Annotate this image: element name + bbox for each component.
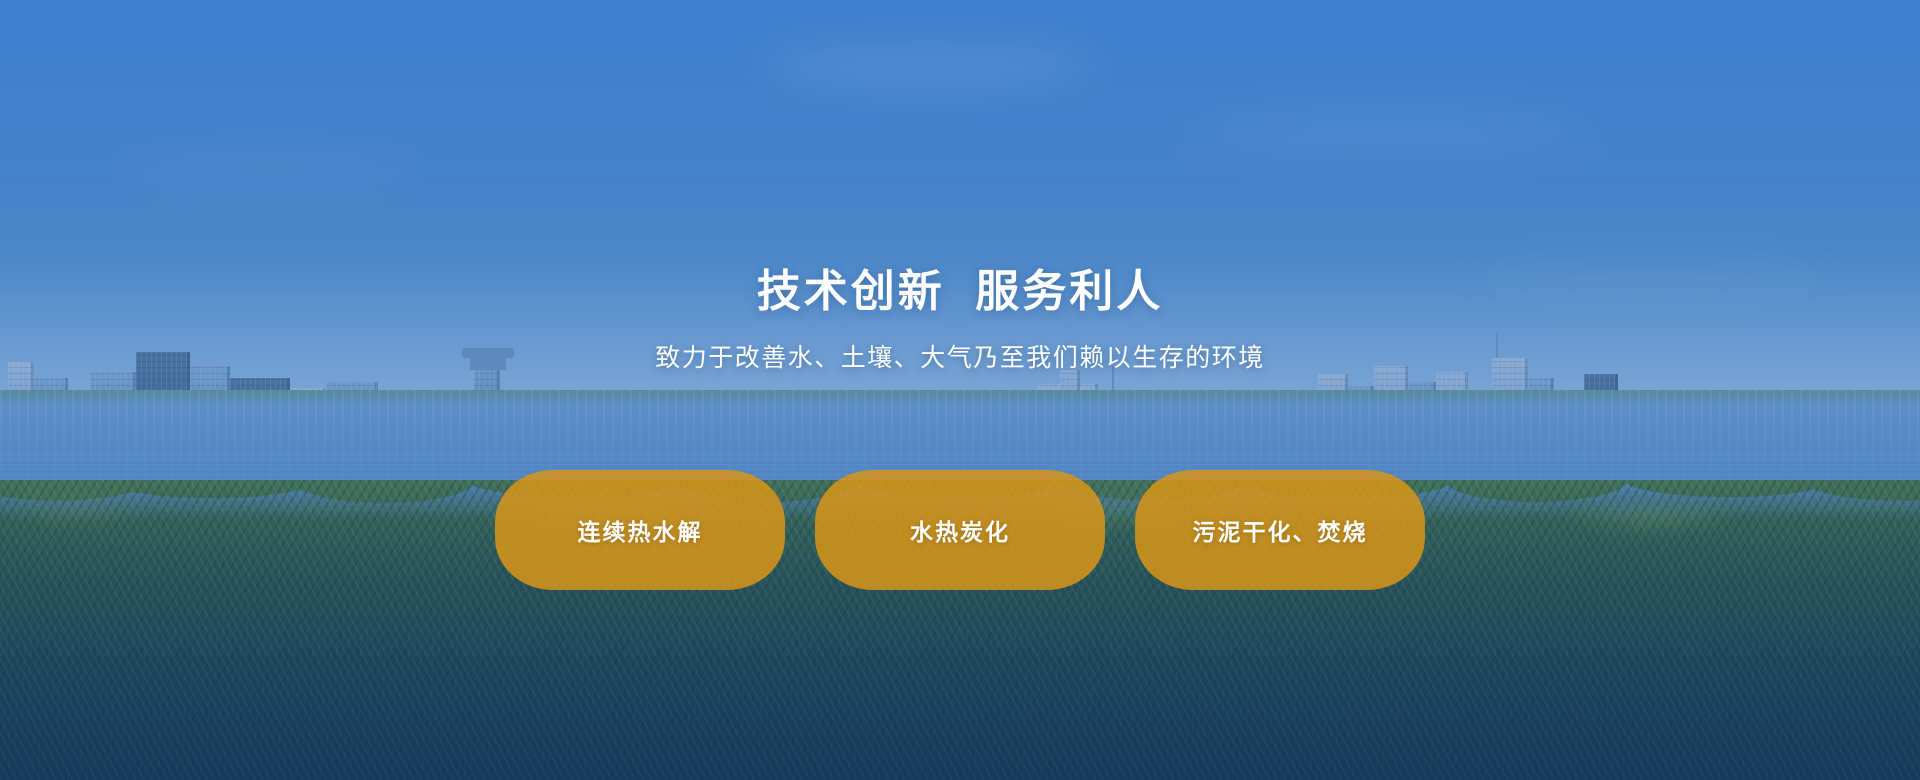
hero-banner: 技术创新 服务利人 致力于改善水、土壤、大气乃至我们赖以生存的环境 连续热水解 … (0, 0, 1920, 780)
btn-continuous-thermal-hydrolysis[interactable]: 连续热水解 (495, 470, 785, 590)
cloud-wisp-icon (1180, 110, 1600, 150)
antenna-icon (1496, 332, 1498, 358)
hero-button-group: 连续热水解 水热炭化 污泥干化、焚烧 (0, 470, 1920, 590)
btn-hydrothermal-carbonization[interactable]: 水热炭化 (815, 470, 1105, 590)
cloud-wisp-icon (120, 150, 420, 184)
tower-neck (470, 356, 506, 370)
btn-sludge-drying-incineration[interactable]: 污泥干化、焚烧 (1135, 470, 1425, 590)
cloud-wisp-icon (760, 40, 1100, 92)
